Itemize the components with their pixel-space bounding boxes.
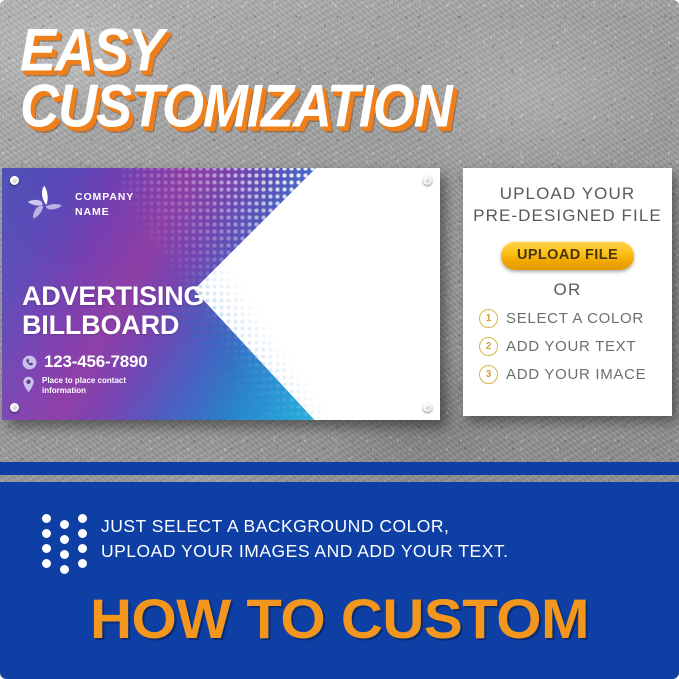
step-item-2[interactable]: 2 ADD YOUR TEXT [479, 337, 672, 356]
card-heading: UPLOAD YOUR PRE-DESIGNED FILE [473, 183, 662, 228]
footer-blue-band: JUST SELECT A BACKGROUND COLOR, UPLOAD Y… [0, 482, 679, 679]
footer-copy: JUST SELECT A BACKGROUND COLOR, UPLOAD Y… [101, 514, 509, 565]
banner-title-line-1: ADVERTISING [22, 282, 204, 311]
location-pin-icon [22, 376, 35, 393]
company-name-line-2: NAME [75, 205, 134, 220]
grommet-top-left [10, 176, 19, 185]
banner-title-line-2: BILLBOARD [22, 311, 204, 340]
banner-address-row: Place to place contact information [22, 376, 172, 397]
step-item-3[interactable]: 3 ADD YOUR IMACE [479, 365, 672, 384]
promo-graphic: EASY CUSTOMIZATION COMPANY [0, 0, 679, 679]
step-item-1[interactable]: 1 SELECT A COLOR [479, 309, 672, 328]
footer-big-title: HOW TO CUSTOM [0, 586, 679, 651]
step-label-2: ADD YOUR TEXT [506, 338, 636, 355]
banner-surface: COMPANY NAME ADVERTISING BILLBOARD 123-4… [2, 168, 440, 420]
card-heading-line-2: PRE-DESIGNED FILE [473, 205, 662, 227]
upload-instructions-card: UPLOAD YOUR PRE-DESIGNED FILE UPLOAD FIL… [463, 168, 672, 416]
step-number-badge-2: 2 [479, 337, 498, 356]
headline-line-2: CUSTOMIZATION [20, 78, 679, 135]
company-name-line-1: COMPANY [75, 190, 134, 205]
grommet-bottom-left [10, 403, 19, 412]
banner-address-text: Place to place contact information [42, 376, 172, 397]
step-label-3: ADD YOUR IMACE [506, 366, 646, 383]
step-label-1: SELECT A COLOR [506, 310, 644, 327]
headline: EASY CUSTOMIZATION [20, 22, 660, 126]
footer-copy-line-1: JUST SELECT A BACKGROUND COLOR, [101, 514, 509, 539]
blue-divider-strip [0, 462, 679, 475]
card-heading-line-1: UPLOAD YOUR [473, 183, 662, 205]
tri-blade-logo-icon [22, 184, 66, 226]
step-number-badge-1: 1 [479, 309, 498, 328]
step-number-badge-3: 3 [479, 365, 498, 384]
banner-title: ADVERTISING BILLBOARD [22, 282, 204, 339]
or-separator-label: OR [554, 280, 582, 300]
phone-icon [22, 355, 37, 370]
banner-phone-row: 123-456-7890 [22, 352, 172, 372]
banner-company-name: COMPANY NAME [75, 190, 134, 220]
banner-logo-row: COMPANY NAME [22, 184, 134, 226]
headline-line-1: EASY [20, 22, 679, 79]
grommet-bottom-right [423, 403, 432, 412]
dot-grid-icon [42, 514, 88, 578]
grommet-top-right [423, 176, 432, 185]
banner-phone-number: 123-456-7890 [44, 352, 147, 372]
banner-contact-block: 123-456-7890 Place to place contact info… [22, 352, 172, 397]
steps-list: 1 SELECT A COLOR 2 ADD YOUR TEXT 3 ADD Y… [463, 309, 672, 393]
billboard-banner-mockup: COMPANY NAME ADVERTISING BILLBOARD 123-4… [2, 168, 440, 420]
footer-copy-line-2: UPLOAD YOUR IMAGES AND ADD YOUR TEXT. [101, 539, 509, 564]
upload-file-button[interactable]: UPLOAD FILE [501, 241, 634, 270]
